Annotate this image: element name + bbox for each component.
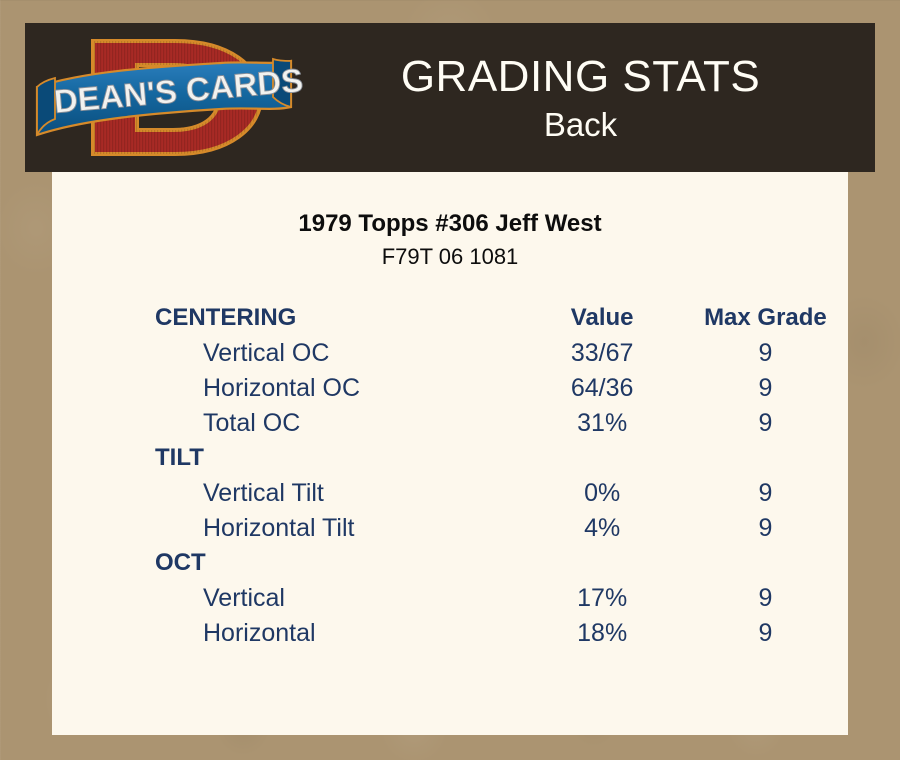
table-row: Horizontal Tilt4%9 — [155, 511, 845, 546]
table-section-row: OCT — [155, 546, 845, 581]
stat-max-grade: 9 — [686, 616, 845, 651]
grading-stats-body: CENTERINGValueMax GradeVertical OC33/679… — [155, 301, 845, 651]
table-header-row: CENTERINGValueMax Grade — [155, 301, 845, 336]
stat-value: 0% — [518, 476, 685, 511]
content-panel: 1979 Topps #306 Jeff West F79T 06 1081 C… — [52, 172, 848, 735]
stat-max-grade: 9 — [686, 511, 845, 546]
stat-label: CENTERING — [155, 301, 518, 336]
grading-stats-screen: DEAN'S CARDS GRADING STATS Back 1979 Top… — [0, 0, 900, 760]
stat-value: 31% — [518, 406, 685, 441]
stat-label: TILT — [155, 441, 518, 476]
stat-label: Horizontal Tilt — [155, 511, 518, 546]
stat-value — [518, 546, 685, 581]
card-title: 1979 Topps #306 Jeff West — [52, 209, 848, 239]
stat-max-grade: 9 — [686, 336, 845, 371]
card-serial-number: F79T 06 1081 — [52, 243, 848, 272]
stat-label: Vertical OC — [155, 336, 518, 371]
stat-label: Vertical — [155, 581, 518, 616]
stat-value: Value — [518, 301, 685, 336]
table-row: Horizontal OC64/369 — [155, 371, 845, 406]
stat-max-grade: 9 — [686, 581, 845, 616]
stat-value: 33/67 — [518, 336, 685, 371]
stat-max-grade: 9 — [686, 406, 845, 441]
stat-max-grade — [686, 441, 845, 476]
table-row: Vertical Tilt0%9 — [155, 476, 845, 511]
stat-value: 4% — [518, 511, 685, 546]
header-title-group: GRADING STATS Back — [310, 55, 875, 141]
stat-value — [518, 441, 685, 476]
stat-value: 18% — [518, 616, 685, 651]
grading-stats-table: CENTERINGValueMax GradeVertical OC33/679… — [155, 301, 845, 651]
stat-value: 64/36 — [518, 371, 685, 406]
page-subtitle: Back — [310, 108, 851, 141]
table-row: Vertical17%9 — [155, 581, 845, 616]
logo-artwork: DEAN'S CARDS — [25, 23, 310, 172]
stat-max-grade — [686, 546, 845, 581]
table-section-row: TILT — [155, 441, 845, 476]
stat-max-grade: 9 — [686, 371, 845, 406]
stat-max-grade: Max Grade — [686, 301, 845, 336]
stat-label: Horizontal OC — [155, 371, 518, 406]
page-title: GRADING STATS — [310, 55, 851, 99]
deans-cards-logo[interactable]: DEAN'S CARDS — [25, 23, 310, 172]
table-row: Total OC31%9 — [155, 406, 845, 441]
card-heading: 1979 Topps #306 Jeff West F79T 06 1081 — [52, 172, 848, 272]
stat-label: OCT — [155, 546, 518, 581]
stat-label: Total OC — [155, 406, 518, 441]
stat-label: Vertical Tilt — [155, 476, 518, 511]
stat-max-grade: 9 — [686, 476, 845, 511]
table-row: Horizontal18%9 — [155, 616, 845, 651]
header-bar: DEAN'S CARDS GRADING STATS Back — [25, 23, 875, 172]
table-row: Vertical OC33/679 — [155, 336, 845, 371]
stat-value: 17% — [518, 581, 685, 616]
stat-label: Horizontal — [155, 616, 518, 651]
